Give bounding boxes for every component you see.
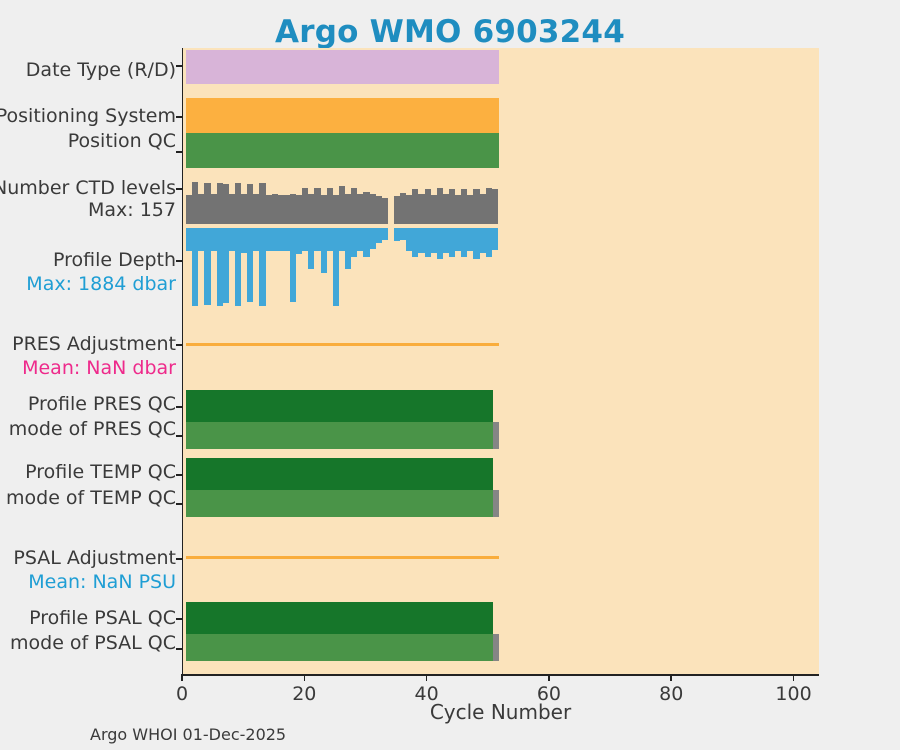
band-profile-temp-qc-seg — [392, 458, 494, 490]
line-pres-adjustment — [186, 343, 499, 346]
x-tick — [426, 674, 428, 681]
band-mode-of-temp-qc-seg — [186, 490, 391, 517]
row-label-mode-of-temp-qc: mode of TEMP QC — [6, 488, 182, 508]
y-tick-position-qc — [176, 151, 183, 153]
row-label-positioning-system: Positioning System — [0, 106, 182, 126]
x-tick-label: 100 — [775, 683, 811, 705]
row-sublabel-psal-adjustment: Mean: NaN PSU — [28, 572, 182, 592]
bar-number-ctd-levels — [382, 198, 388, 224]
x-tick-label: 20 — [292, 683, 316, 705]
band-position-qc — [186, 133, 499, 168]
band-mode-of-psal-qc-gray — [493, 634, 499, 661]
band-profile-temp-qc-seg — [186, 458, 391, 490]
band-profile-pres-qc-seg — [186, 390, 391, 422]
band-mode-of-pres-qc-gray — [493, 422, 499, 449]
row-sublabel-pres-adjustment: Mean: NaN dbar — [22, 358, 182, 378]
band-mode-of-pres-qc-seg — [392, 422, 494, 449]
row-label-psal-adjustment: PSAL Adjustment — [13, 548, 182, 568]
bar-profile-depth — [492, 228, 498, 250]
band-mode-of-temp-qc-seg — [392, 490, 494, 517]
plot-area — [182, 48, 819, 674]
band-date-type-r-d — [186, 50, 499, 84]
row-label-profile-depth: Profile Depth — [53, 250, 182, 270]
x-tick-label: 60 — [537, 683, 561, 705]
row-sublabel-number-ctd-levels: Max: 157 — [88, 200, 182, 220]
row-sublabel-profile-depth: Max: 1884 dbar — [26, 274, 182, 294]
band-mode-of-psal-qc-seg — [186, 634, 391, 661]
credit-text: Argo WHOI 01-Dec-2025 — [90, 725, 286, 744]
x-tick — [304, 674, 306, 681]
x-tick — [181, 674, 183, 681]
row-label-mode-of-pres-qc: mode of PRES QC — [9, 419, 182, 439]
row-label-position-qc: Position QC — [68, 131, 182, 151]
x-tick-label: 0 — [176, 683, 188, 705]
bar-number-ctd-levels — [492, 189, 498, 224]
band-mode-of-pres-qc-seg — [186, 422, 391, 449]
row-label-mode-of-psal-qc: mode of PSAL QC — [10, 633, 182, 653]
x-tick — [548, 674, 550, 681]
bar-profile-depth — [382, 228, 388, 240]
x-tick — [793, 674, 795, 681]
row-label-pres-adjustment: PRES Adjustment — [12, 334, 182, 354]
row-label-profile-psal-qc: Profile PSAL QC — [29, 608, 182, 628]
x-tick-label: 40 — [415, 683, 439, 705]
row-label-profile-temp-qc: Profile TEMP QC — [25, 462, 182, 482]
x-tick — [670, 674, 672, 681]
band-positioning-system — [186, 98, 499, 133]
x-axis-line — [182, 674, 819, 676]
band-mode-of-temp-qc-gray — [493, 490, 499, 517]
row-label-date-type: Date Type (R/D) — [26, 60, 182, 80]
row-label-profile-pres-qc: Profile PRES QC — [28, 394, 182, 414]
page-title: Argo WMO 6903244 — [0, 14, 900, 50]
band-profile-psal-qc-seg — [186, 602, 391, 634]
x-axis-label: Cycle Number — [182, 700, 819, 724]
x-tick-label: 80 — [659, 683, 683, 705]
band-mode-of-psal-qc-seg — [392, 634, 494, 661]
band-profile-pres-qc-seg — [392, 390, 494, 422]
argo-figure: Argo WMO 6903244 Cycle Number Argo WHOI … — [0, 0, 900, 750]
row-label-number-ctd-levels: Number CTD levels — [0, 178, 182, 198]
line-psal-adjustment — [186, 556, 499, 559]
band-profile-psal-qc-seg — [392, 602, 494, 634]
